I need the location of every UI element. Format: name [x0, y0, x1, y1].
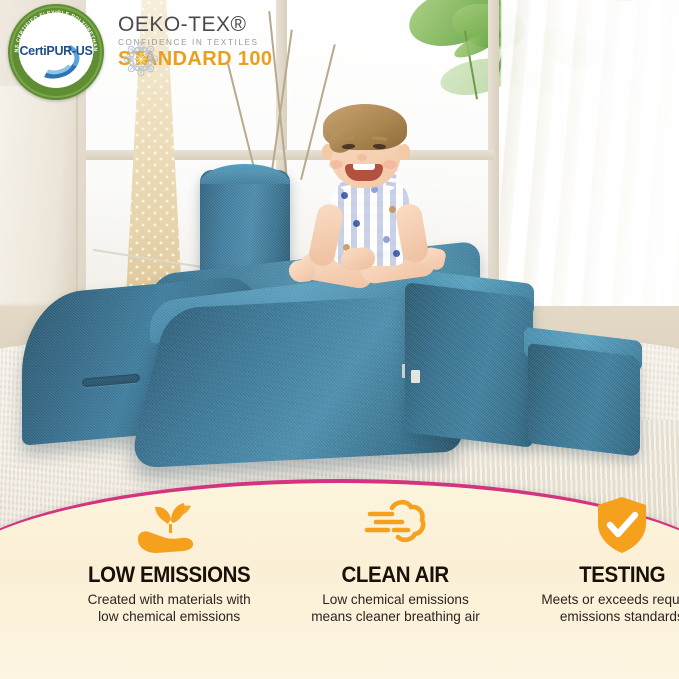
benefit-low-emissions: LOW EMISSIONS Created with materials wit…: [56, 494, 282, 626]
child-model: [295, 108, 445, 323]
child-ear: [399, 144, 410, 160]
oeko-tex-wordmark: OEKO-TEX®: [118, 14, 293, 35]
carry-handle: [82, 373, 140, 387]
product-infographic: CONTAINS CERTIFIED FLEXIBLE POLYURETHANE…: [0, 0, 679, 679]
certipur-brand-text: CertiPUR-US: [8, 44, 104, 58]
child-cheek: [383, 160, 397, 169]
child-mouth: [345, 164, 383, 181]
benefit-description: Meets or exceeds required emissions stan…: [515, 592, 679, 626]
benefit-description-line: low chemical emissions: [62, 609, 276, 626]
benefit-description: Low chemical emissions means cleaner bre…: [288, 592, 502, 626]
benefit-description-line: Low chemical emissions: [288, 592, 502, 609]
benefit-clean-air: CLEAN AIR Low chemical emissions means c…: [282, 494, 508, 626]
shield-check-icon: [515, 494, 679, 556]
child-hair: [323, 104, 407, 150]
cloud-wind-icon: [288, 494, 502, 556]
stair-step-lower: [528, 343, 640, 457]
benefit-description-line: Created with materials with: [62, 592, 276, 609]
certification-bar: CONTAINS CERTIFIED FLEXIBLE POLYURETHANE…: [0, 0, 300, 96]
hand-holding-plant-icon: [62, 494, 276, 556]
certipur-us-badge: CONTAINS CERTIFIED FLEXIBLE POLYURETHANE…: [8, 4, 104, 100]
benefit-description-line: emissions standards: [515, 609, 679, 626]
child-teeth: [353, 164, 375, 170]
benefit-description-line: means cleaner breathing air: [288, 609, 502, 626]
snowflake-icon: [122, 40, 160, 78]
benefit-description: Created with materials with low chemical…: [62, 592, 276, 626]
benefit-description-line: Meets or exceeds required: [515, 592, 679, 609]
child-cheek: [329, 160, 343, 169]
fabric-tag: [411, 370, 420, 383]
benefits-list: LOW EMISSIONS Created with materials wit…: [56, 494, 679, 659]
cabinet: [0, 86, 78, 308]
benefit-title: TESTING: [522, 562, 679, 588]
benefit-title: LOW EMISSIONS: [70, 562, 269, 588]
benefit-testing: TESTING Meets or exceeds required emissi…: [509, 494, 679, 626]
child-nose: [357, 154, 367, 161]
benefit-title: CLEAN AIR: [296, 562, 495, 588]
